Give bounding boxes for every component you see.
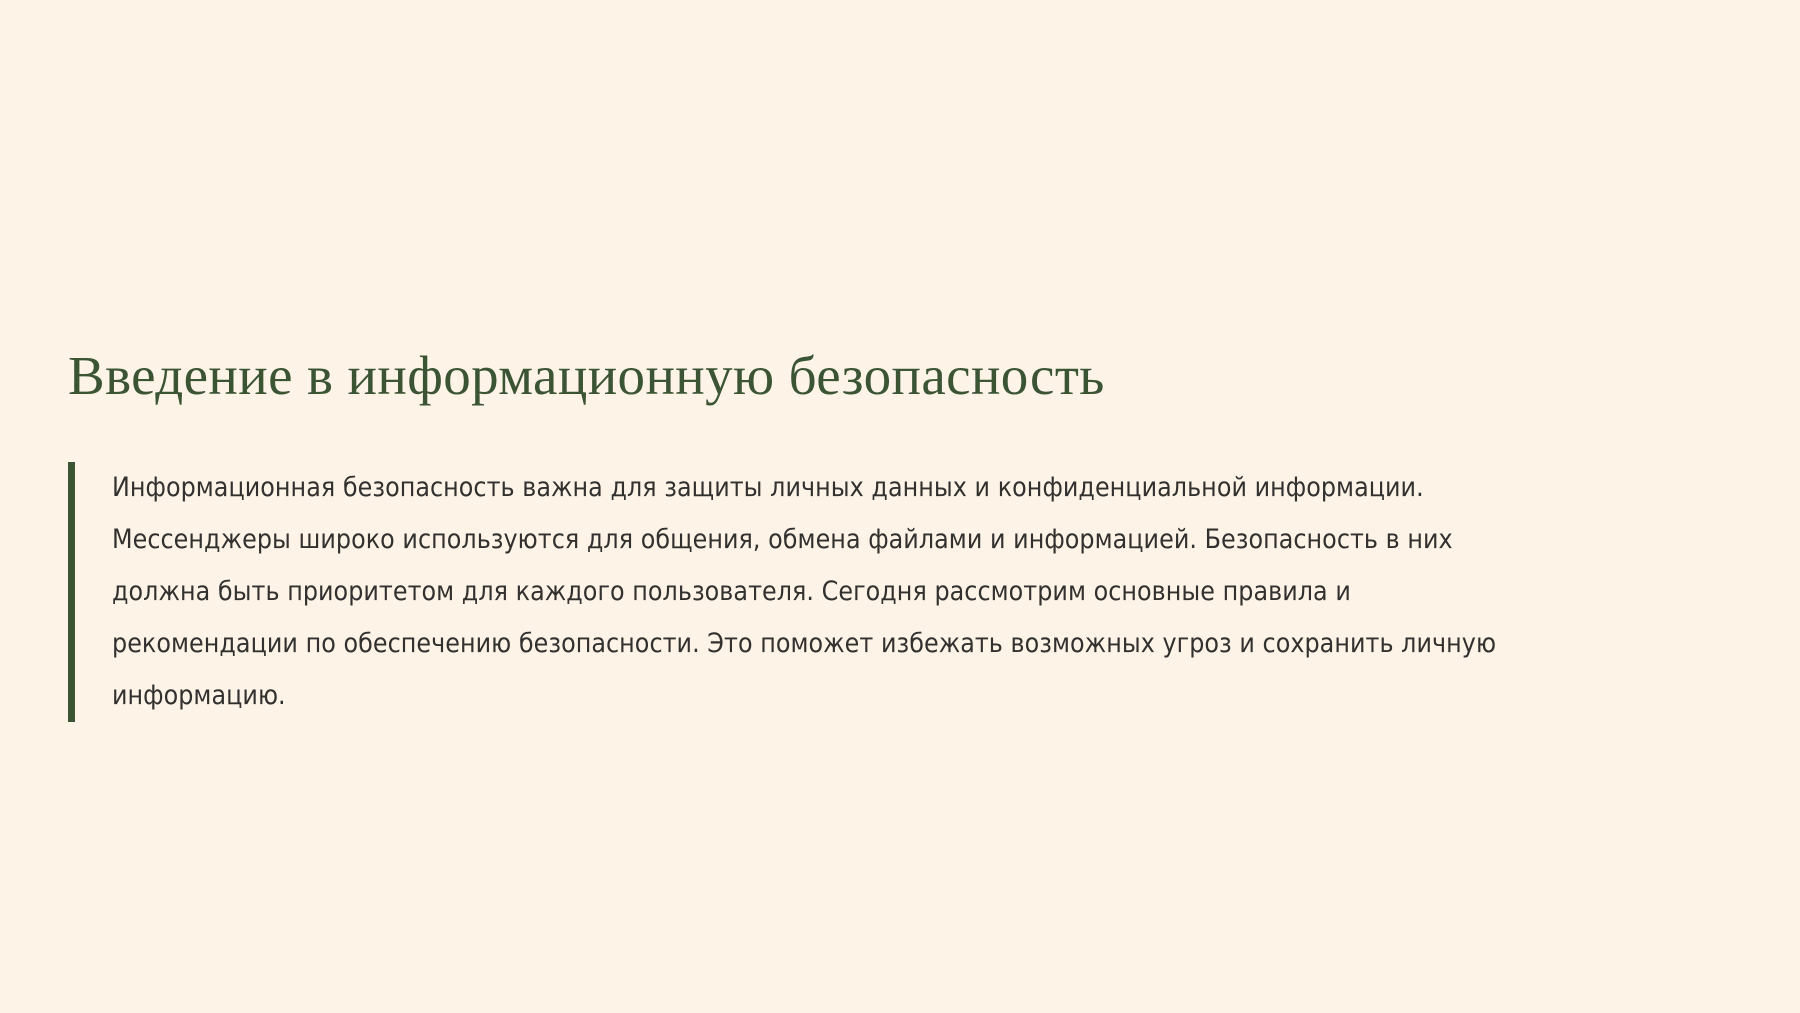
accent-bar (68, 462, 75, 722)
body-paragraph: Информационная безопасность важна для за… (75, 462, 1528, 722)
body-callout: Информационная безопасность важна для за… (68, 462, 1528, 722)
slide-canvas: Введение в информационную безопасность И… (0, 0, 1800, 1013)
page-title: Введение в информационную безопасность (68, 343, 1568, 409)
